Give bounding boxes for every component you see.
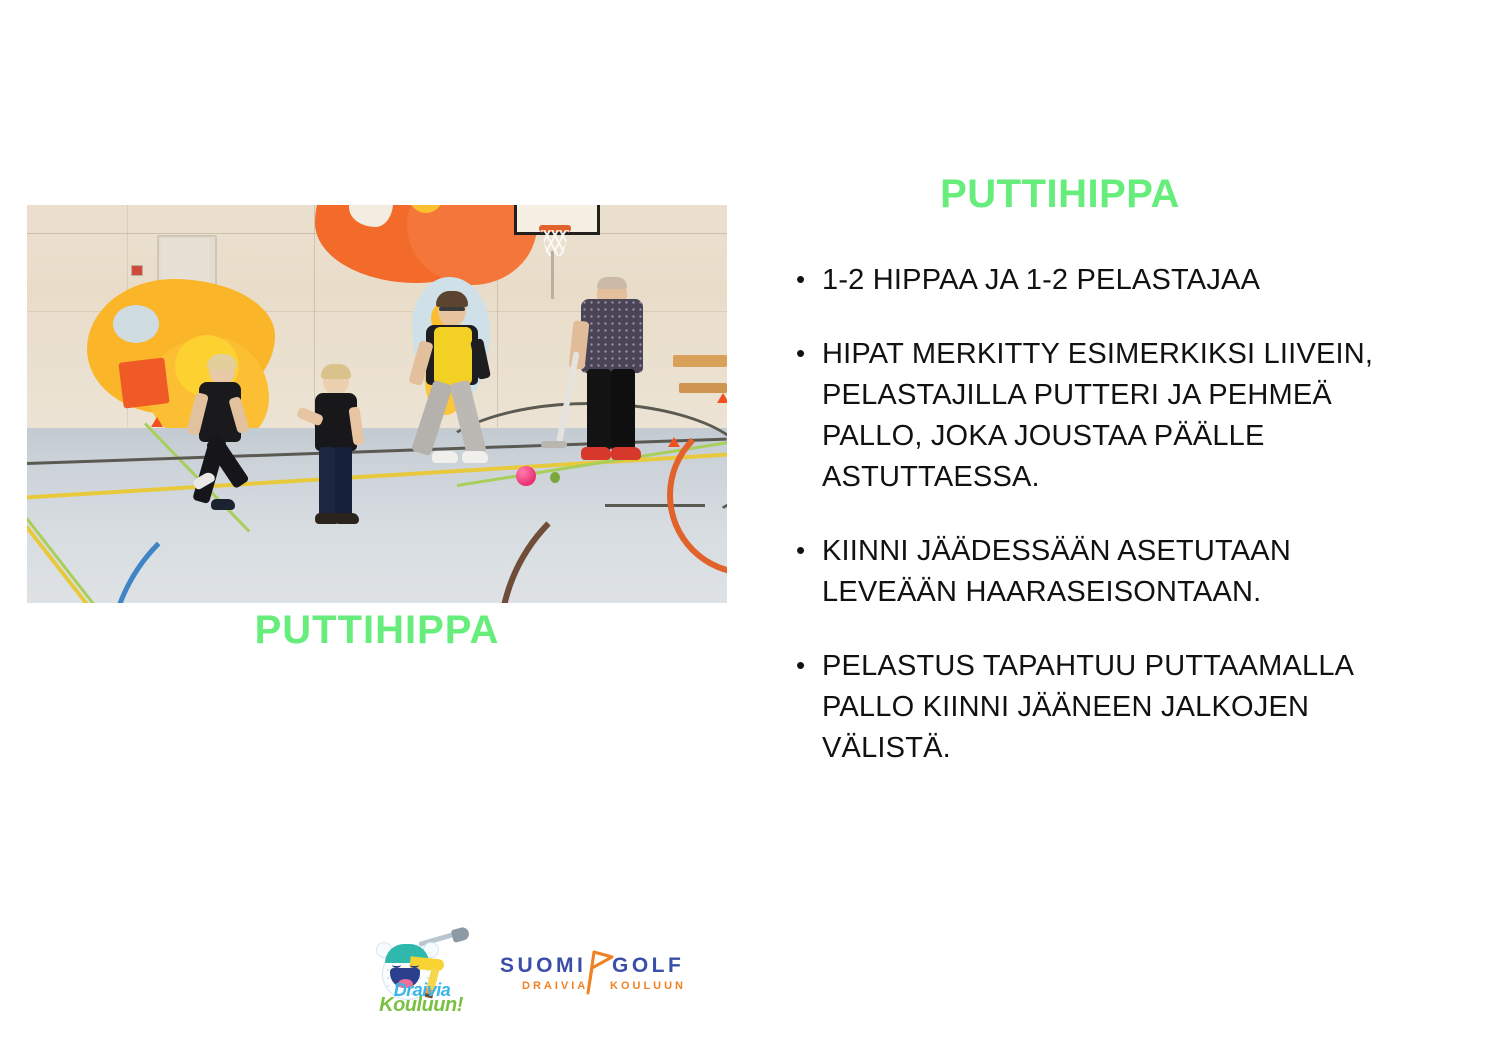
- suomi-golf-word2: GOLF: [612, 954, 684, 978]
- court-line-yellow: [27, 511, 97, 603]
- mural-orange-square: [118, 357, 169, 408]
- court-line-green: [27, 502, 109, 603]
- training-cone: [668, 437, 680, 447]
- bullet-list: 1-2 HIPPAA JA 1-2 PELASTAJAA HIPAT MERKI…: [790, 260, 1430, 802]
- footer-logos: Draivia Kouluun! SUOMI GOLF DRAIVIA KOUL…: [0, 930, 1485, 1020]
- leg: [611, 369, 635, 451]
- suomi-golf-sub2: KOULUUN: [610, 980, 686, 992]
- hair: [597, 277, 627, 289]
- shoe: [211, 499, 235, 510]
- gym-bench: [673, 355, 727, 367]
- gym-photo: [27, 205, 727, 603]
- torso-purple-shirt: [581, 299, 643, 373]
- wall-sign-red: [131, 265, 143, 276]
- leg: [587, 369, 611, 451]
- suomi-golf-logo: SUOMI GOLF DRAIVIA KOULUUN: [500, 950, 680, 1000]
- draivia-kouluun-logo: Draivia Kouluun!: [366, 930, 474, 1014]
- training-cone: [151, 417, 163, 427]
- court-arc-blue: [107, 492, 447, 603]
- gym-bench: [679, 383, 727, 393]
- bullet-item: HIPAT MERKITTY ESIMERKIKSI LIIVEIN, PELA…: [790, 334, 1430, 498]
- suomi-golf-word1: SUOMI: [500, 954, 586, 978]
- hoop-support: [551, 251, 554, 299]
- page-title: PUTTIHIPPA: [780, 172, 1340, 217]
- leg: [335, 447, 352, 517]
- leg: [319, 447, 336, 517]
- hair: [207, 354, 237, 370]
- glasses: [439, 307, 465, 311]
- golf-club-head-icon: [451, 926, 471, 943]
- training-cone: [717, 393, 727, 403]
- pink-ball: [516, 466, 536, 486]
- mural-blue-oval: [113, 305, 159, 343]
- bullet-item: KIINNI JÄÄDESSÄÄN ASETUTAAN LEVEÄÄN HAAR…: [790, 531, 1430, 613]
- putter-head: [541, 441, 567, 448]
- shoe: [432, 451, 458, 463]
- wall-seam: [314, 205, 315, 427]
- shoe: [335, 513, 359, 524]
- photo-caption: PUTTIHIPPA: [27, 608, 727, 653]
- slide: PUTTIHIPPA PUTTIHIPPA 1-2 HIPPAA JA 1-2 …: [0, 0, 1485, 1050]
- hair: [321, 364, 351, 379]
- green-marker-ball: [550, 472, 560, 483]
- yellow-vest: [434, 327, 472, 385]
- shoe: [462, 451, 488, 463]
- shoe: [611, 447, 641, 460]
- draivia-logo-line2: Kouluun!: [368, 994, 474, 1017]
- bullet-item: 1-2 HIPPAA JA 1-2 PELASTAJAA: [790, 260, 1430, 301]
- hair: [436, 291, 468, 307]
- bullet-item: PELASTUS TAPAHTUU PUTTAAMALLA PALLO KIIN…: [790, 646, 1430, 769]
- suomi-golf-sub1: DRAIVIA: [522, 980, 588, 992]
- shoe: [581, 447, 611, 460]
- photo-block: [27, 205, 727, 603]
